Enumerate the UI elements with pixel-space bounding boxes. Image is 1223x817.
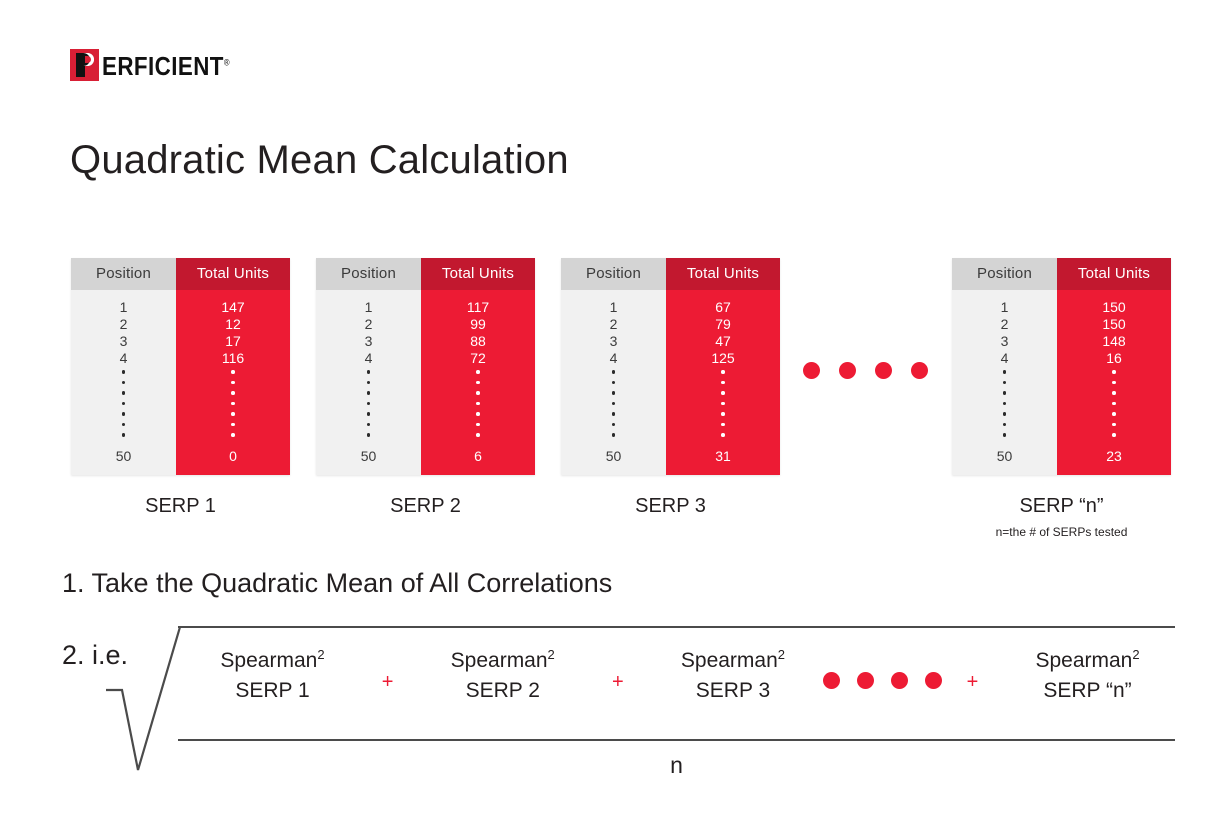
units-cell: 12 bbox=[176, 316, 290, 333]
total-units-column-header: Total Units bbox=[666, 258, 780, 290]
serp-caption-n: SERP “n” bbox=[952, 495, 1171, 518]
serp-table-2: Position 1 2 3 4 50 Total Units 117 99 bbox=[316, 258, 535, 475]
serp-caption-3: SERP 3 bbox=[561, 495, 780, 518]
vertical-ellipsis-icon bbox=[71, 367, 176, 448]
position-cell: 2 bbox=[952, 316, 1057, 333]
term-top-label: Spearman bbox=[451, 649, 548, 672]
term-bottom-label: SERP “n” bbox=[1043, 679, 1131, 702]
position-cell: 1 bbox=[71, 299, 176, 316]
position-cell-last: 50 bbox=[561, 448, 666, 465]
position-cell: 1 bbox=[561, 299, 666, 316]
position-cell: 1 bbox=[316, 299, 421, 316]
total-units-column-header: Total Units bbox=[176, 258, 290, 290]
position-cell: 4 bbox=[561, 350, 666, 367]
position-column-n: Position 1 2 3 4 50 bbox=[952, 258, 1057, 475]
vertical-ellipsis-icon bbox=[952, 367, 1057, 448]
position-column-body: 1 2 3 4 50 bbox=[561, 290, 666, 475]
vertical-ellipsis-icon bbox=[316, 367, 421, 448]
position-column-header: Position bbox=[316, 258, 421, 290]
position-column-body: 1 2 3 4 50 bbox=[952, 290, 1057, 475]
units-cell: 17 bbox=[176, 333, 290, 350]
total-units-column-2: Total Units 117 99 88 72 6 bbox=[421, 258, 535, 475]
units-cell: 16 bbox=[1057, 350, 1171, 367]
position-cell-last: 50 bbox=[952, 448, 1057, 465]
position-cell: 4 bbox=[952, 350, 1057, 367]
total-units-column-body: 147 12 17 116 0 bbox=[176, 290, 290, 475]
perficient-logo-mark bbox=[70, 49, 99, 81]
units-cell: 125 bbox=[666, 350, 780, 367]
total-units-column-3: Total Units 67 79 47 125 31 bbox=[666, 258, 780, 475]
serp-table-3: Position 1 2 3 4 50 Total Units 67 79 bbox=[561, 258, 780, 475]
term-top-label: Spearman bbox=[681, 649, 778, 672]
position-cell: 2 bbox=[316, 316, 421, 333]
radical-overbar bbox=[178, 626, 1175, 628]
units-cell-last: 31 bbox=[666, 448, 780, 465]
formula-plus-2: + bbox=[590, 653, 645, 694]
position-cell: 3 bbox=[71, 333, 176, 350]
page-title: Quadratic Mean Calculation bbox=[70, 138, 569, 183]
formula-numerator: Spearman2 SERP 1 + Spearman2 SERP 2 + Sp… bbox=[185, 640, 1175, 706]
position-cell: 3 bbox=[561, 333, 666, 350]
term-exponent: 2 bbox=[548, 647, 555, 662]
position-column-3: Position 1 2 3 4 50 bbox=[561, 258, 666, 475]
serp-block-2: Position 1 2 3 4 50 Total Units 117 99 bbox=[316, 258, 535, 518]
units-cell: 47 bbox=[666, 333, 780, 350]
position-cell: 3 bbox=[952, 333, 1057, 350]
step-one-text: 1. Take the Quadratic Mean of All Correl… bbox=[62, 568, 612, 599]
position-cell: 4 bbox=[316, 350, 421, 367]
vertical-ellipsis-icon bbox=[666, 367, 780, 448]
units-cell: 150 bbox=[1057, 299, 1171, 316]
perficient-logo-wordmark: ERFICIENT® bbox=[102, 53, 230, 79]
vertical-ellipsis-icon bbox=[421, 367, 535, 448]
position-cell: 3 bbox=[316, 333, 421, 350]
quadratic-mean-formula: 2. i.e. Spearman2 SERP 1 + Spearman2 SER… bbox=[0, 612, 1223, 807]
serp-table-1: Position 1 2 3 4 50 Total Units 147 12 bbox=[71, 258, 290, 475]
position-cell: 1 bbox=[952, 299, 1057, 316]
total-units-column-header: Total Units bbox=[421, 258, 535, 290]
position-column-body: 1 2 3 4 50 bbox=[71, 290, 176, 475]
formula-term-n: Spearman2 SERP “n” bbox=[1000, 640, 1175, 706]
total-units-column-header: Total Units bbox=[1057, 258, 1171, 290]
formula-plus-1: + bbox=[360, 653, 415, 694]
formula-term-2: Spearman2 SERP 2 bbox=[415, 640, 590, 706]
position-cell: 2 bbox=[71, 316, 176, 333]
serp-table-n: Position 1 2 3 4 50 Total Units 150 150 bbox=[952, 258, 1171, 475]
total-units-column-body: 150 150 148 16 23 bbox=[1057, 290, 1171, 475]
total-units-column-body: 117 99 88 72 6 bbox=[421, 290, 535, 475]
serp-caption-1: SERP 1 bbox=[71, 495, 290, 518]
term-exponent: 2 bbox=[1132, 647, 1139, 662]
perficient-logo: ERFICIENT® bbox=[70, 47, 251, 81]
term-top-label: Spearman bbox=[1035, 649, 1132, 672]
total-units-column-n: Total Units 150 150 148 16 23 bbox=[1057, 258, 1171, 475]
serp-block-n: Position 1 2 3 4 50 Total Units 150 150 bbox=[952, 258, 1171, 539]
term-bottom-label: SERP 2 bbox=[466, 679, 540, 702]
formula-denominator: n bbox=[178, 752, 1175, 779]
units-cell-last: 0 bbox=[176, 448, 290, 465]
position-cell-last: 50 bbox=[316, 448, 421, 465]
position-column-2: Position 1 2 3 4 50 bbox=[316, 258, 421, 475]
term-bottom-label: SERP 1 bbox=[235, 679, 309, 702]
vertical-ellipsis-icon bbox=[1057, 367, 1171, 448]
units-cell: 88 bbox=[421, 333, 535, 350]
serp-block-1: Position 1 2 3 4 50 Total Units 147 12 bbox=[71, 258, 290, 518]
term-bottom-label: SERP 3 bbox=[696, 679, 770, 702]
position-cell: 4 bbox=[71, 350, 176, 367]
logo-mark-counter bbox=[85, 56, 91, 63]
units-cell: 116 bbox=[176, 350, 290, 367]
position-cell-last: 50 bbox=[71, 448, 176, 465]
logo-trademark-symbol: ® bbox=[224, 57, 230, 67]
serp-subcaption-n: n=the # of SERPs tested bbox=[952, 525, 1171, 539]
position-cell: 2 bbox=[561, 316, 666, 333]
serp-tables-area: Position 1 2 3 4 50 Total Units 147 12 bbox=[0, 258, 1223, 528]
position-column-1: Position 1 2 3 4 50 bbox=[71, 258, 176, 475]
serp-block-3: Position 1 2 3 4 50 Total Units 67 79 bbox=[561, 258, 780, 518]
total-units-column-body: 67 79 47 125 31 bbox=[666, 290, 780, 475]
term-exponent: 2 bbox=[778, 647, 785, 662]
total-units-column-1: Total Units 147 12 17 116 0 bbox=[176, 258, 290, 475]
logo-wordmark-text: ERFICIENT bbox=[102, 51, 224, 81]
formula-horizontal-ellipsis-icon bbox=[820, 658, 944, 689]
vertical-ellipsis-icon bbox=[561, 367, 666, 448]
units-cell: 147 bbox=[176, 299, 290, 316]
units-cell: 150 bbox=[1057, 316, 1171, 333]
position-column-header: Position bbox=[952, 258, 1057, 290]
units-cell: 79 bbox=[666, 316, 780, 333]
term-top-label: Spearman bbox=[220, 649, 317, 672]
units-cell: 72 bbox=[421, 350, 535, 367]
units-cell: 117 bbox=[421, 299, 535, 316]
formula-term-3: Spearman2 SERP 3 bbox=[645, 640, 820, 706]
units-cell-last: 23 bbox=[1057, 448, 1171, 465]
position-column-header: Position bbox=[71, 258, 176, 290]
units-cell: 148 bbox=[1057, 333, 1171, 350]
formula-plus-3: + bbox=[945, 653, 1000, 694]
position-column-body: 1 2 3 4 50 bbox=[316, 290, 421, 475]
units-cell: 99 bbox=[421, 316, 535, 333]
horizontal-ellipsis-icon bbox=[803, 362, 928, 379]
units-cell: 67 bbox=[666, 299, 780, 316]
units-cell-last: 6 bbox=[421, 448, 535, 465]
fraction-bar bbox=[178, 739, 1175, 741]
serp-caption-2: SERP 2 bbox=[316, 495, 535, 518]
term-exponent: 2 bbox=[317, 647, 324, 662]
position-column-header: Position bbox=[561, 258, 666, 290]
vertical-ellipsis-icon bbox=[176, 367, 290, 448]
formula-term-1: Spearman2 SERP 1 bbox=[185, 640, 360, 706]
